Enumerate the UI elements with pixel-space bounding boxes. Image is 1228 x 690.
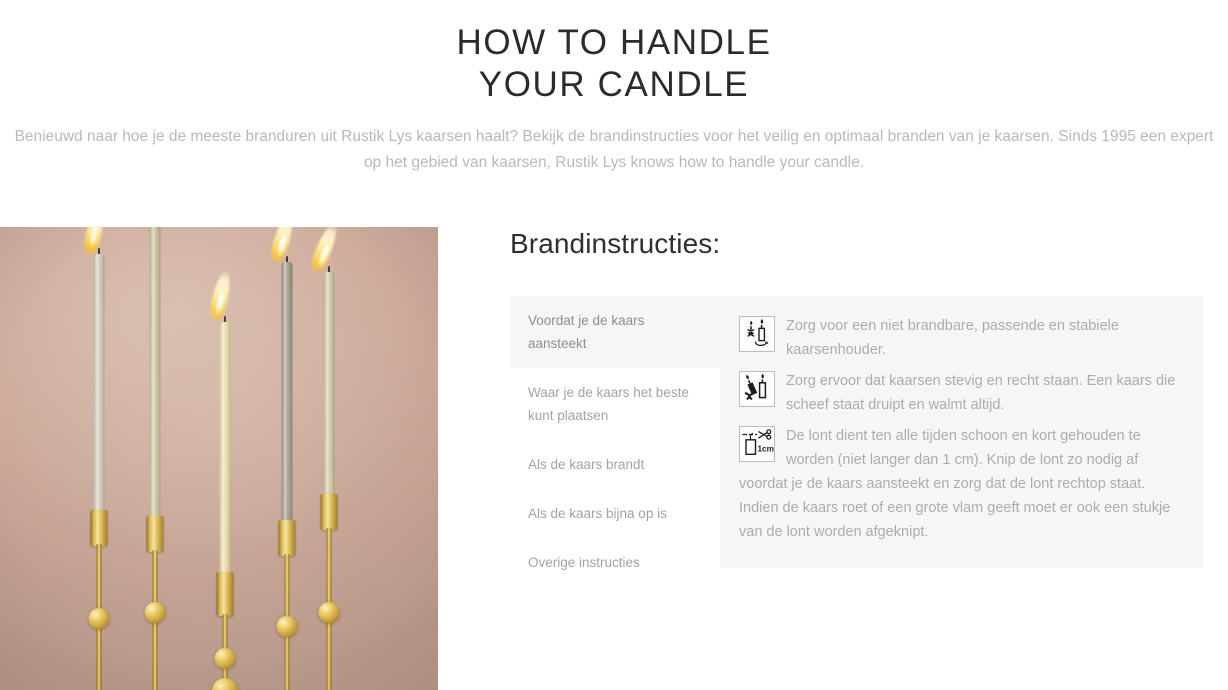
page-title: HOW TO HANDLE YOUR CANDLE <box>0 22 1228 106</box>
candle-photo <box>0 227 438 690</box>
page-subtitle: Benieuwd naar hoe je de meeste branduren… <box>9 124 1219 176</box>
instruction-rule-3-text: De lont dient ten alle tijden schoon en … <box>739 424 1182 544</box>
photo-vignette <box>0 227 438 690</box>
tab-als-de-kaars-bijna-op-is[interactable]: Als de kaars bijna op is <box>510 489 720 538</box>
instruction-rule-3: 1cm De lont dient ten alle tijden schoon… <box>739 424 1182 544</box>
instructions-column: Brandinstructies: Voordat je de kaars aa… <box>510 227 1204 261</box>
instructions-panel: Voordat je de kaars aansteekt Waar je de… <box>510 296 1204 568</box>
tab-als-de-kaars-brandt[interactable]: Als de kaars brandt <box>510 440 720 489</box>
section-title: Brandinstructies: <box>510 227 1204 261</box>
content-area: Brandinstructies: Voordat je de kaars aa… <box>0 227 1228 690</box>
tab-waar-je-de-kaars-het-beste-kunt-plaatsen[interactable]: Waar je de kaars het beste kunt plaatsen <box>510 368 720 440</box>
instruction-detail: Zorg voor een niet brandbare, passende e… <box>720 296 1204 568</box>
instruction-rule-1-text: Zorg voor een niet brandbare, passende e… <box>739 314 1182 362</box>
page-title-line-1: HOW TO HANDLE <box>0 22 1228 64</box>
candle-upright-icon <box>739 371 775 407</box>
candle-holder-icon <box>739 316 775 352</box>
tab-voordat-je-de-kaars-aansteekt[interactable]: Voordat je de kaars aansteekt <box>510 296 720 368</box>
page-title-line-2: YOUR CANDLE <box>0 64 1228 106</box>
instruction-rule-1: Zorg voor een niet brandbare, passende e… <box>739 314 1182 362</box>
instruction-tabs: Voordat je de kaars aansteekt Waar je de… <box>510 296 720 568</box>
instruction-rule-2: Zorg ervoor dat kaarsen stevig en recht … <box>739 369 1182 417</box>
svg-text:1cm: 1cm <box>758 445 774 454</box>
instruction-rule-2-text: Zorg ervoor dat kaarsen stevig en recht … <box>739 369 1182 417</box>
hero-section: HOW TO HANDLE YOUR CANDLE Benieuwd naar … <box>0 0 1228 176</box>
page-root: HOW TO HANDLE YOUR CANDLE Benieuwd naar … <box>0 0 1228 690</box>
tab-overige-instructies[interactable]: Overige instructies <box>510 538 720 587</box>
wick-trim-scissors-icon: 1cm <box>739 426 775 462</box>
